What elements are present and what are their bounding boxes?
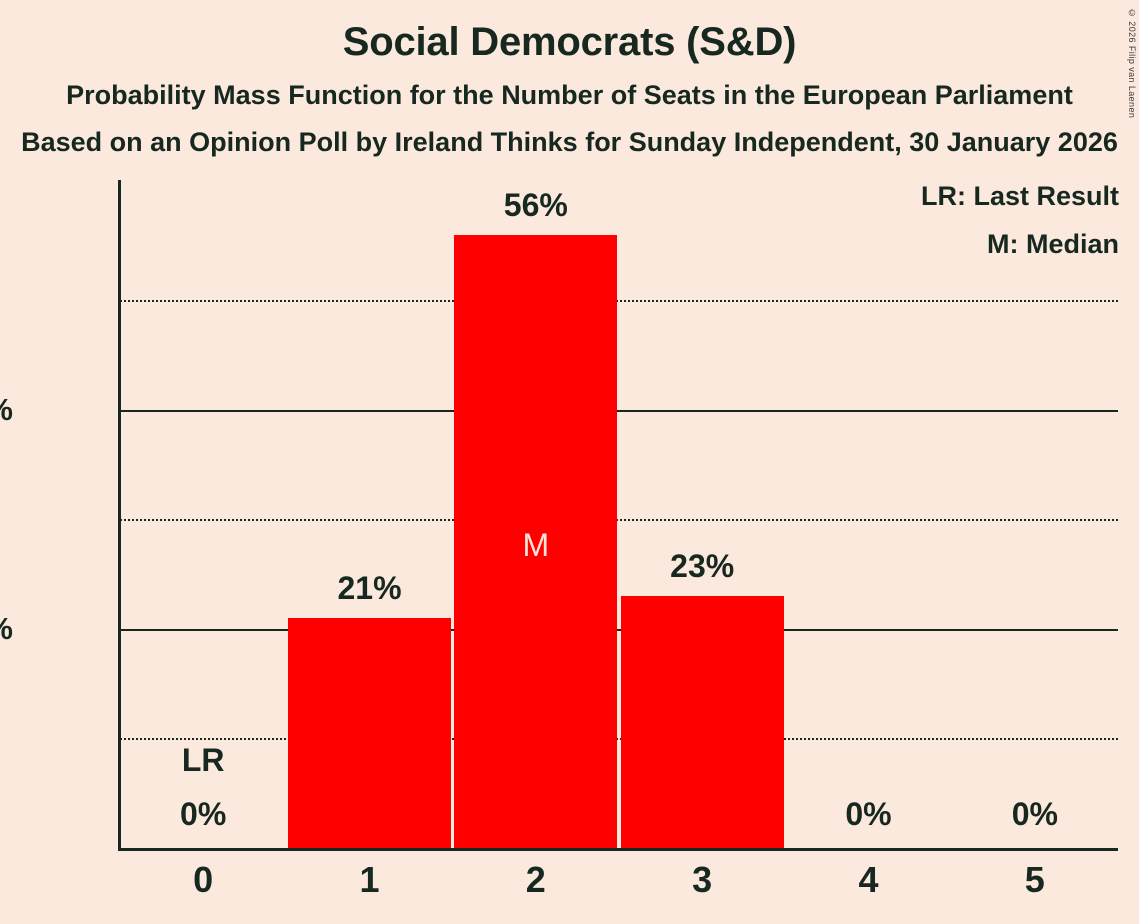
x-tick-label-1: 1 bbox=[286, 862, 452, 898]
x-tick-label-5: 5 bbox=[952, 862, 1118, 898]
y-tick-label-40: 40% bbox=[0, 394, 13, 425]
page-title: Social Democrats (S&D) bbox=[0, 0, 1139, 62]
bar-seats-3 bbox=[621, 596, 784, 848]
bar-value-label-3: 23% bbox=[619, 550, 785, 582]
bar-value-label-4: 0% bbox=[785, 798, 951, 830]
median-marker: M bbox=[453, 529, 619, 561]
gridline-10 bbox=[120, 738, 1118, 740]
bar-value-label-5: 0% bbox=[952, 798, 1118, 830]
bar-value-label-2: 56% bbox=[453, 189, 619, 221]
chart-subtitle: Probability Mass Function for the Number… bbox=[0, 62, 1139, 109]
gridline-30 bbox=[120, 519, 1118, 521]
bar-seats-1 bbox=[288, 618, 451, 848]
bar-value-label-1: 21% bbox=[286, 572, 452, 604]
gridline-50 bbox=[120, 300, 1118, 302]
x-tick-label-0: 0 bbox=[120, 862, 286, 898]
chart-header: Social Democrats (S&D) Probability Mass … bbox=[0, 0, 1139, 156]
x-tick-label-4: 4 bbox=[785, 862, 951, 898]
chart-source-line: Based on an Opinion Poll by Ireland Thin… bbox=[0, 109, 1139, 156]
copyright-notice: © 2026 Filip van Laenen bbox=[1127, 8, 1137, 118]
y-tick-label-20: 20% bbox=[0, 613, 13, 644]
last-result-marker: LR bbox=[120, 744, 286, 776]
x-tick-label-3: 3 bbox=[619, 862, 785, 898]
x-tick-label-2: 2 bbox=[453, 862, 619, 898]
x-axis-line bbox=[118, 848, 1118, 851]
gridline-20 bbox=[120, 629, 1118, 631]
gridline-40 bbox=[120, 410, 1118, 412]
bar-value-label-0: 0% bbox=[120, 798, 286, 830]
